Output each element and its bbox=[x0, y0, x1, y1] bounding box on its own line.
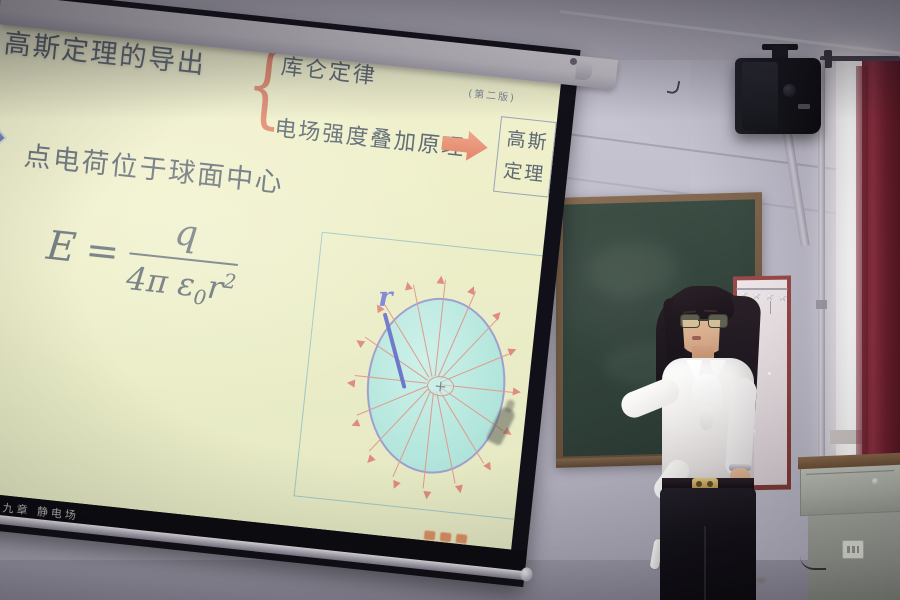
field-arrow-icon bbox=[467, 285, 478, 296]
curtain-rod-bracket bbox=[824, 50, 832, 68]
mouth bbox=[692, 336, 701, 340]
formula-denominator: 4π ε0r2 bbox=[124, 258, 237, 312]
formula-lhs: E bbox=[44, 223, 78, 272]
gauss-diagram: r + bbox=[294, 232, 545, 520]
wall-pipe-joint bbox=[816, 300, 827, 309]
result-box: 高斯 定理 bbox=[493, 116, 557, 198]
field-arrow-icon bbox=[365, 454, 376, 465]
field-arrow-icon bbox=[513, 387, 522, 396]
field-arrow-icon bbox=[403, 281, 412, 290]
formula-den-r-sup: 2 bbox=[222, 269, 237, 294]
field-arrow-icon bbox=[350, 419, 360, 429]
result-box-line-2: 定理 bbox=[501, 156, 548, 188]
field-arrow-icon bbox=[423, 491, 432, 500]
field-arrow-icon bbox=[354, 337, 365, 348]
slide-surface: ...度通量 高斯定理 (第二版) 高斯定理的导出 { 库仑定律 电场强度叠加原… bbox=[0, 0, 563, 550]
radius-label: r bbox=[378, 282, 392, 313]
trouser-seam bbox=[704, 526, 706, 600]
screen-housing-knob[interactable] bbox=[570, 58, 577, 65]
curtain-fold bbox=[856, 66, 868, 458]
projection-screen: ...度通量 高斯定理 (第二版) 高斯定理的导出 { 库仑定律 电场强度叠加原… bbox=[0, 0, 581, 600]
field-arrow-icon bbox=[390, 480, 401, 491]
lens-right bbox=[708, 314, 728, 328]
taskbar-icon[interactable] bbox=[440, 532, 452, 542]
classroom-scene: ...度通量 高斯定理 (第二版) 高斯定理的导出 { 库仑定律 电场强度叠加原… bbox=[0, 0, 900, 600]
result-box-line-1: 高斯 bbox=[504, 124, 551, 156]
trousers bbox=[660, 488, 756, 600]
speaker-cone bbox=[783, 84, 796, 97]
field-arrow-icon bbox=[492, 310, 503, 321]
slide-edition-label: (第二版) bbox=[468, 85, 517, 105]
formula-fraction: q 4π ε0r2 bbox=[124, 208, 243, 313]
slide-heading-2: 点电荷位于球面中心 bbox=[22, 134, 286, 201]
field-arrow-icon bbox=[508, 346, 518, 356]
formula: E = q 4π ε0r2 bbox=[42, 199, 243, 313]
taskbar-icon[interactable] bbox=[424, 530, 436, 540]
field-arrow-icon bbox=[483, 461, 494, 472]
field-lines-group bbox=[323, 233, 544, 257]
field-arrow-icon bbox=[436, 275, 445, 284]
curtain-rod bbox=[820, 56, 900, 61]
bullet-diamond-icon bbox=[0, 125, 5, 149]
slide: ...度通量 高斯定理 (第二版) 高斯定理的导出 { 库仑定律 电场强度叠加原… bbox=[0, 0, 563, 550]
slide-branch-2: 电场强度叠加原理 bbox=[273, 110, 467, 162]
bow-tail bbox=[700, 406, 713, 430]
field-arrow-icon bbox=[455, 484, 464, 493]
speaker-badge bbox=[798, 104, 810, 109]
field-arrow-icon bbox=[346, 379, 355, 388]
power-outlet[interactable] bbox=[842, 540, 864, 559]
glasses-icon bbox=[680, 314, 726, 326]
glasses-bridge bbox=[698, 319, 708, 321]
lecturer bbox=[600, 278, 800, 600]
podium-drawer-knob[interactable] bbox=[872, 478, 879, 485]
lens-left bbox=[680, 314, 700, 328]
speaker-grille bbox=[742, 62, 778, 130]
taskbar-icon[interactable] bbox=[456, 534, 468, 544]
formula-equals: = bbox=[83, 227, 121, 276]
formula-numerator: q bbox=[157, 211, 216, 258]
formula-den-prefix: 4π bbox=[125, 259, 170, 301]
